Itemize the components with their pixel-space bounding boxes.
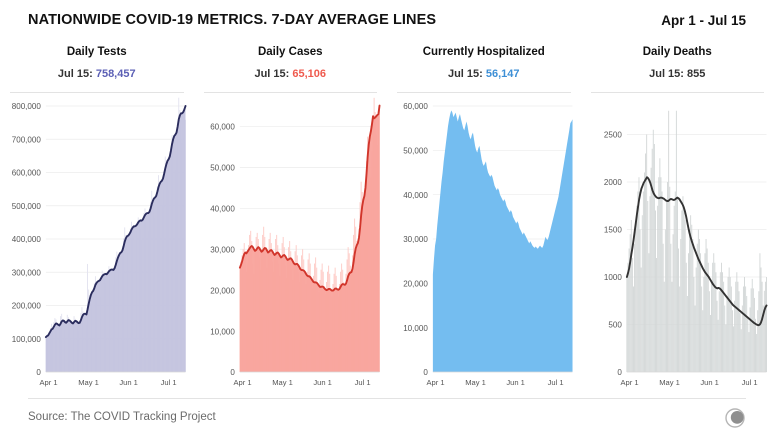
chart-daily-tests: 0100,000200,000300,000400,000500,000600,… <box>0 96 194 398</box>
svg-text:500,000: 500,000 <box>12 202 42 211</box>
dashboard-footer: Source: The COVID Tracking Project <box>0 398 774 440</box>
panel-divider <box>10 92 184 93</box>
chart-daily-cases: 010,00020,00030,00040,00050,00060,000Apr… <box>194 96 388 398</box>
svg-text:0: 0 <box>423 368 428 377</box>
svg-text:Jun 1: Jun 1 <box>506 378 525 387</box>
svg-text:100,000: 100,000 <box>12 335 42 344</box>
svg-text:Apr 1: Apr 1 <box>620 378 638 387</box>
svg-text:Apr 1: Apr 1 <box>233 378 251 387</box>
svg-text:300,000: 300,000 <box>12 268 42 277</box>
svg-text:Apr 1: Apr 1 <box>39 378 57 387</box>
dashboard-header: NATIONWIDE COVID-19 METRICS. 7-DAY AVERA… <box>0 0 774 40</box>
svg-text:Jun 1: Jun 1 <box>119 378 138 387</box>
source-label: Source: The COVID Tracking Project <box>28 411 216 423</box>
svg-text:1500: 1500 <box>603 226 621 235</box>
svg-text:2000: 2000 <box>603 178 621 187</box>
svg-text:May 1: May 1 <box>659 378 680 387</box>
svg-text:30,000: 30,000 <box>210 245 235 254</box>
svg-text:20,000: 20,000 <box>403 280 428 289</box>
panel-divider <box>397 92 571 93</box>
svg-text:1000: 1000 <box>603 273 621 282</box>
panel-latest-stat: Jul 15: 56,147 <box>387 66 581 82</box>
panel-header-daily-cases: Daily Cases Jul 15: 65,106 <box>194 40 388 92</box>
covid-metrics-dashboard: NATIONWIDE COVID-19 METRICS. 7-DAY AVERA… <box>0 0 774 440</box>
svg-text:May 1: May 1 <box>272 378 293 387</box>
svg-text:40,000: 40,000 <box>403 191 428 200</box>
stat-label: Jul 15: <box>448 68 483 80</box>
svg-text:Jun 1: Jun 1 <box>313 378 332 387</box>
page-title: NATIONWIDE COVID-19 METRICS. 7-DAY AVERA… <box>28 12 436 28</box>
svg-text:2500: 2500 <box>603 131 621 140</box>
svg-text:Jul 1: Jul 1 <box>741 378 757 387</box>
svg-text:May 1: May 1 <box>78 378 99 387</box>
svg-text:20,000: 20,000 <box>210 286 235 295</box>
panel-header-daily-deaths: Daily Deaths Jul 15: 855 <box>581 40 774 92</box>
stat-value: 855 <box>687 68 705 80</box>
svg-text:50,000: 50,000 <box>210 164 235 173</box>
panel-title: Daily Cases <box>194 44 388 60</box>
covid-tracking-project-logo-icon <box>724 406 748 430</box>
svg-text:60,000: 60,000 <box>210 123 235 132</box>
svg-text:Jun 1: Jun 1 <box>700 378 719 387</box>
chart-svg-daily-tests: 0100,000200,000300,000400,000500,000600,… <box>0 96 194 398</box>
svg-text:Apr 1: Apr 1 <box>426 378 444 387</box>
chart-panels: Daily Tests Jul 15: 758,457 0100,000200,… <box>0 40 774 398</box>
svg-text:400,000: 400,000 <box>12 235 42 244</box>
chart-daily-deaths: 05001000150020002500Apr 1May 1Jun 1Jul 1 <box>581 96 774 398</box>
svg-text:600,000: 600,000 <box>12 169 42 178</box>
stat-label: Jul 15: <box>254 68 289 80</box>
svg-text:50,000: 50,000 <box>403 147 428 156</box>
panel-currently-hospitalized: Currently Hospitalized Jul 15: 56,147 01… <box>387 40 581 398</box>
svg-text:500: 500 <box>608 321 622 330</box>
svg-text:Jul 1: Jul 1 <box>354 378 370 387</box>
svg-text:30,000: 30,000 <box>403 235 428 244</box>
panel-daily-deaths: Daily Deaths Jul 15: 855 050010001500200… <box>581 40 774 398</box>
svg-text:Jul 1: Jul 1 <box>548 378 564 387</box>
svg-text:10,000: 10,000 <box>210 327 235 336</box>
svg-text:0: 0 <box>230 368 235 377</box>
panel-latest-stat: Jul 15: 65,106 <box>194 66 388 82</box>
panel-latest-stat: Jul 15: 855 <box>581 66 774 82</box>
stat-label: Jul 15: <box>649 68 684 80</box>
panel-title: Daily Deaths <box>581 44 774 60</box>
panel-header-currently-hospitalized: Currently Hospitalized Jul 15: 56,147 <box>387 40 581 92</box>
svg-text:10,000: 10,000 <box>403 324 428 333</box>
panel-title: Daily Tests <box>0 44 194 60</box>
panel-daily-tests: Daily Tests Jul 15: 758,457 0100,000200,… <box>0 40 194 398</box>
panel-daily-cases: Daily Cases Jul 15: 65,106 010,00020,000… <box>194 40 388 398</box>
footer-divider <box>28 398 746 399</box>
svg-text:800,000: 800,000 <box>12 102 42 111</box>
panel-title: Currently Hospitalized <box>387 44 581 60</box>
stat-value: 758,457 <box>96 68 136 80</box>
svg-text:200,000: 200,000 <box>12 302 42 311</box>
date-range-label: Apr 1 - Jul 15 <box>661 13 746 28</box>
svg-text:0: 0 <box>36 368 41 377</box>
chart-svg-currently-hospitalized: 010,00020,00030,00040,00050,00060,000Apr… <box>387 96 581 398</box>
panel-latest-stat: Jul 15: 758,457 <box>0 66 194 82</box>
panel-divider <box>591 92 765 93</box>
chart-currently-hospitalized: 010,00020,00030,00040,00050,00060,000Apr… <box>387 96 581 398</box>
svg-text:700,000: 700,000 <box>12 135 42 144</box>
chart-svg-daily-deaths: 05001000150020002500Apr 1May 1Jun 1Jul 1 <box>581 96 774 398</box>
svg-text:40,000: 40,000 <box>210 204 235 213</box>
stat-value: 65,106 <box>292 68 326 80</box>
svg-text:0: 0 <box>617 368 622 377</box>
svg-text:60,000: 60,000 <box>403 102 428 111</box>
panel-divider <box>204 92 378 93</box>
stat-value: 56,147 <box>486 68 520 80</box>
svg-text:May 1: May 1 <box>465 378 486 387</box>
stat-label: Jul 15: <box>58 68 93 80</box>
chart-svg-daily-cases: 010,00020,00030,00040,00050,00060,000Apr… <box>194 96 388 398</box>
svg-text:Jul 1: Jul 1 <box>161 378 177 387</box>
panel-header-daily-tests: Daily Tests Jul 15: 758,457 <box>0 40 194 92</box>
